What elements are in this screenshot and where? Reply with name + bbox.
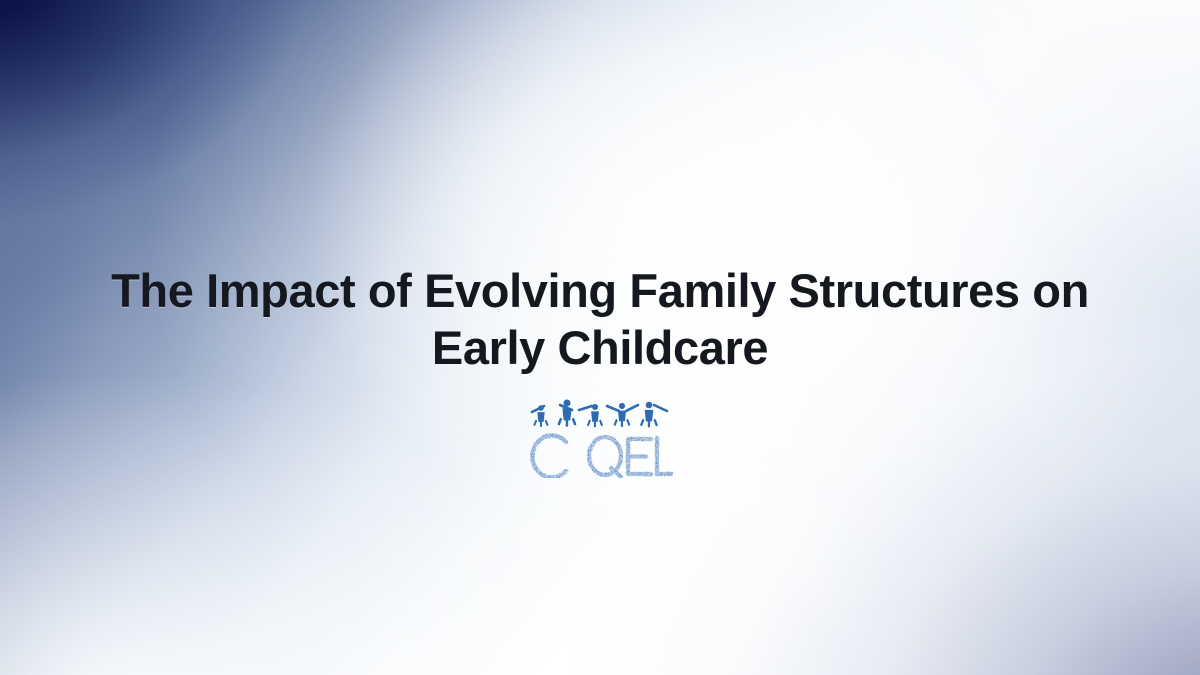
- logo-wordmark: [532, 436, 673, 478]
- logo-children-group: [532, 400, 667, 428]
- logo-child-1: [533, 405, 549, 427]
- page-title: The Impact of Evolving Family Structures…: [70, 262, 1130, 376]
- title-slide: The Impact of Evolving Family Structures…: [0, 0, 1200, 675]
- title-line-1: The Impact of Evolving Family Structures…: [70, 262, 1130, 319]
- logo-child-2: [557, 400, 576, 427]
- cqel-logo: [527, 394, 673, 478]
- cqel-logo-svg: [527, 394, 673, 478]
- title-line-2: Early Childcare: [70, 319, 1130, 376]
- logo-child-4: [613, 403, 630, 427]
- slide-content: The Impact of Evolving Family Structures…: [0, 262, 1200, 478]
